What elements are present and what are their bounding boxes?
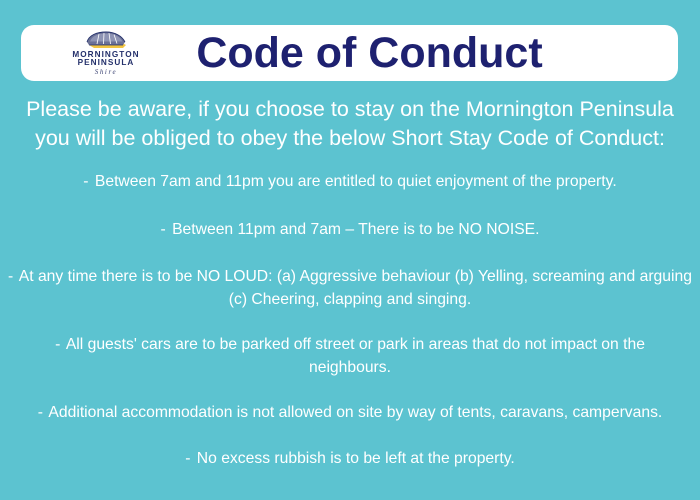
rule-text: All guests' cars are to be parked off st… (66, 336, 645, 376)
rule-text: Additional accommodation is not allowed … (48, 404, 662, 421)
rule-text: No excess rubbish is to be left at the p… (197, 450, 515, 467)
shell-logo-icon (84, 30, 128, 50)
rule-item: - No excess rubbish is to be left at the… (0, 447, 700, 470)
rule-item: - All guests' cars are to be parked off … (0, 333, 700, 379)
rule-text: Between 7am and 11pm you are entitled to… (95, 173, 617, 190)
rule-item: - Additional accommodation is not allowe… (0, 401, 700, 424)
intro-paragraph: Please be aware, if you choose to stay o… (8, 95, 692, 153)
rule-text: At any time there is to be NO LOUD: (a) … (19, 268, 692, 308)
logo-line-peninsula: PENINSULA (78, 59, 135, 67)
rule-dash: - (161, 221, 168, 238)
intro-line-2: you will be obliged to obey the below Sh… (8, 124, 692, 153)
rule-dash: - (8, 268, 15, 285)
rule-dash: - (83, 173, 90, 190)
rules-list: - Between 7am and 11pm you are entitled … (0, 158, 700, 470)
rule-dash: - (38, 404, 45, 421)
rule-dash: - (185, 450, 192, 467)
rule-item: - At any time there is to be NO LOUD: (a… (0, 265, 700, 311)
intro-line-1: Please be aware, if you choose to stay o… (8, 95, 692, 124)
code-of-conduct-slide: MORNINGTON PENINSULA Shire Code of Condu… (0, 0, 700, 500)
rule-text: Between 11pm and 7am – There is to be NO… (172, 221, 539, 238)
mornington-peninsula-shire-logo: MORNINGTON PENINSULA Shire (50, 27, 162, 79)
logo-line-shire: Shire (95, 69, 118, 76)
rule-item: - Between 11pm and 7am – There is to be … (0, 218, 700, 241)
rule-dash: - (55, 336, 62, 353)
header-card: MORNINGTON PENINSULA Shire Code of Condu… (21, 25, 678, 81)
rule-item: - Between 7am and 11pm you are entitled … (0, 170, 700, 193)
